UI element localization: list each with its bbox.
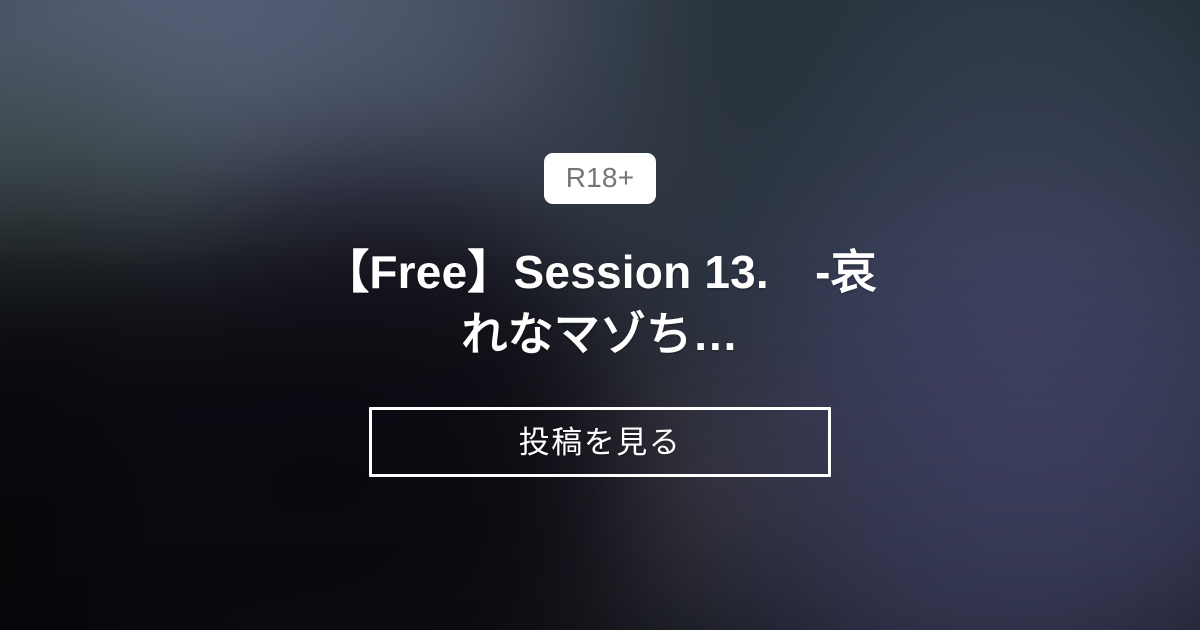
page-title: 【Free】Session 13. -哀れなマゾち… [320, 242, 880, 365]
social-share-card: R18+ 【Free】Session 13. -哀れなマゾち… 投稿を見る [0, 0, 1200, 630]
view-post-button[interactable]: 投稿を見る [369, 407, 831, 477]
age-rating-badge: R18+ [544, 153, 657, 204]
card-content: R18+ 【Free】Session 13. -哀れなマゾち… 投稿を見る [0, 0, 1200, 630]
